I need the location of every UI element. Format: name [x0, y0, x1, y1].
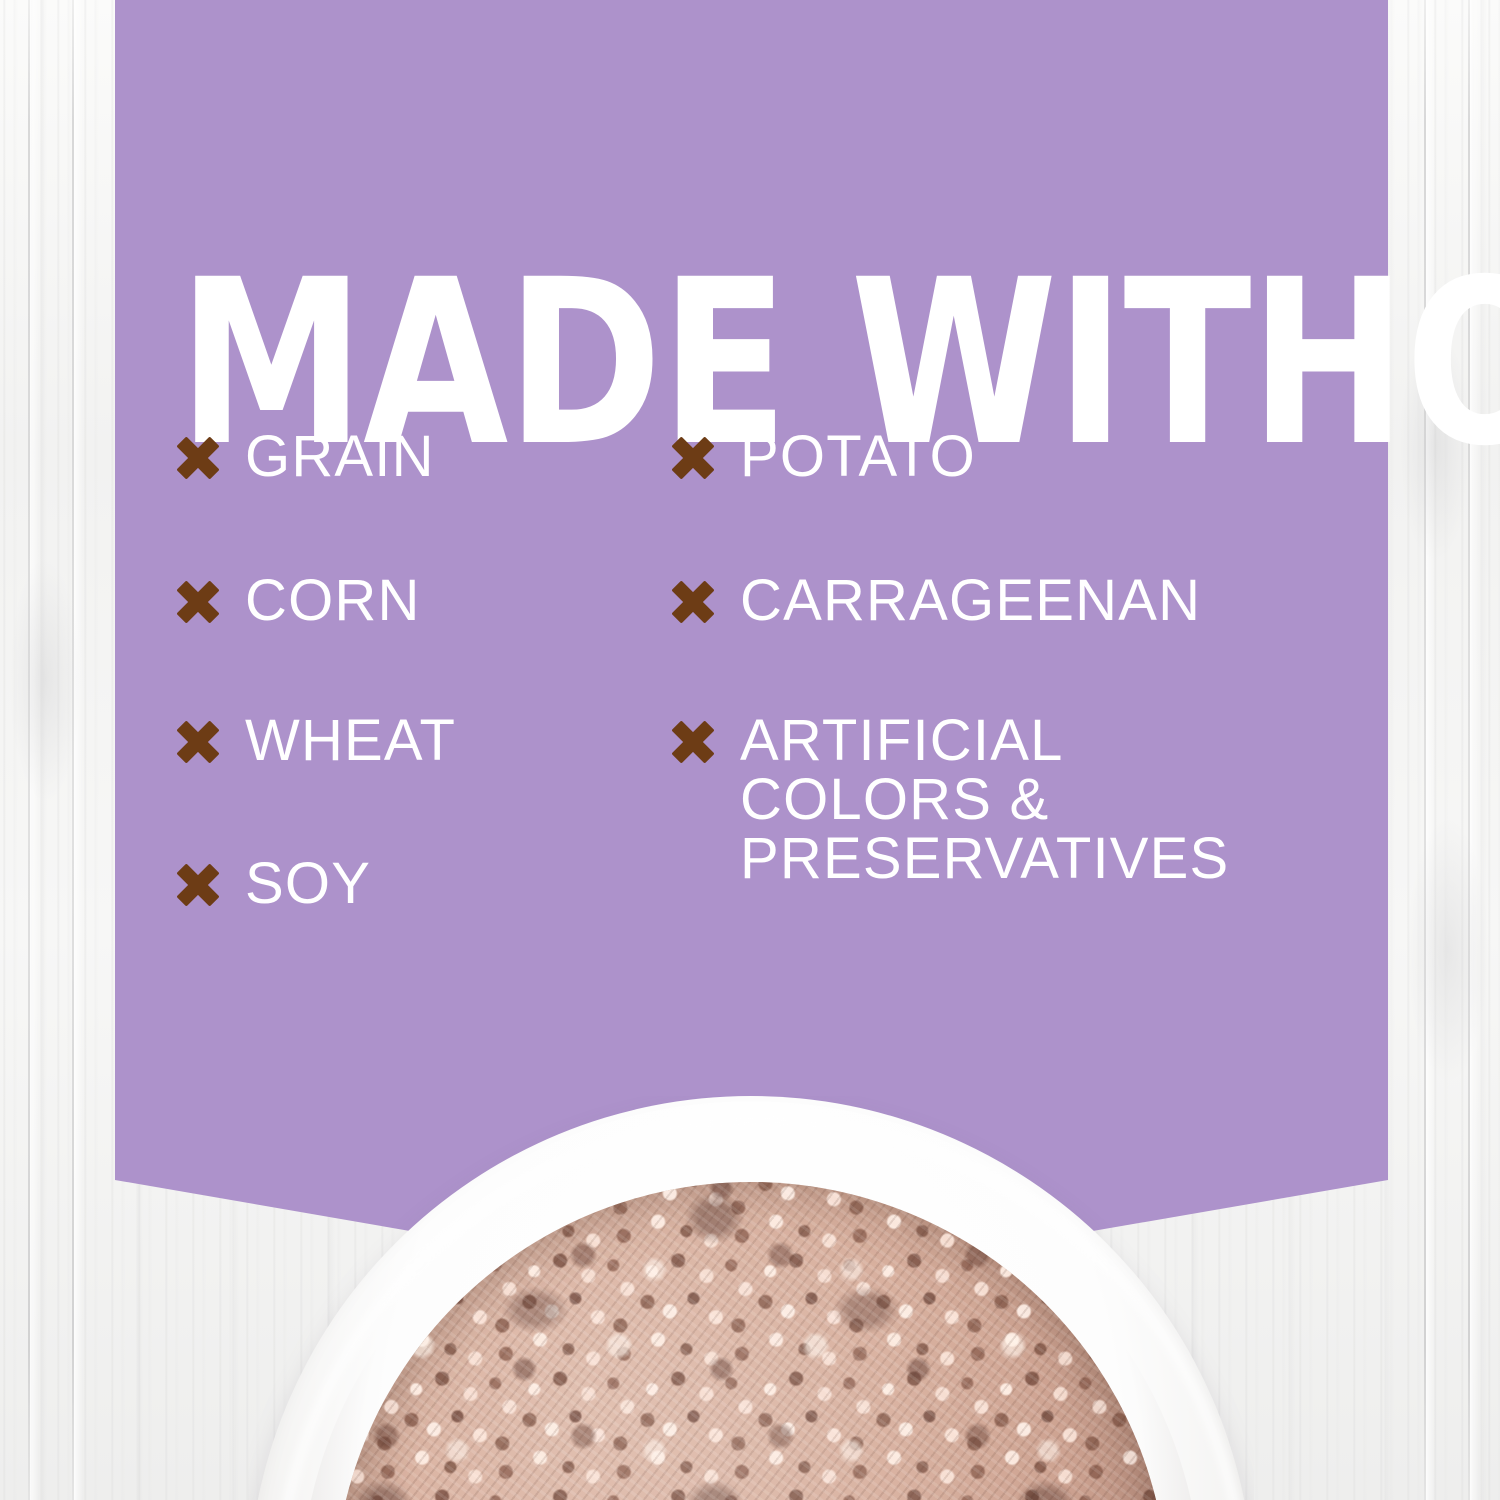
list-item-label: SOY	[245, 854, 371, 913]
list-item: WHEAT	[178, 720, 456, 770]
list-item-label: CARRAGEENAN	[740, 571, 1201, 630]
list-item: CARRAGEENAN	[673, 580, 1201, 630]
wood-plank-seam	[1468, 0, 1470, 1500]
list-item: GRAIN	[178, 436, 435, 486]
list-item: SOY	[178, 863, 371, 913]
list-item-label: POTATO	[740, 427, 976, 486]
list-item-label: CORN	[245, 571, 421, 630]
list-item: POTATO	[673, 436, 976, 486]
x-mark-icon	[673, 582, 713, 622]
wood-knot	[10, 560, 80, 800]
product-feature-graphic: MADE WITHOUT GRAIN CORN WHEAT SOY	[0, 0, 1500, 1500]
list-item: CORN	[178, 580, 421, 630]
x-mark-icon	[178, 438, 218, 478]
wood-knot	[1408, 820, 1488, 1080]
list-item-label: ARTIFICIAL COLORS & PRESERVATIVES	[740, 711, 1229, 888]
x-mark-icon	[178, 865, 218, 905]
list-item-label: GRAIN	[245, 427, 435, 486]
x-mark-icon	[178, 582, 218, 622]
wood-plank-seam	[1424, 0, 1426, 1500]
list-item: ARTIFICIAL COLORS & PRESERVATIVES	[673, 720, 1229, 888]
list-item-label: WHEAT	[245, 711, 456, 770]
x-mark-icon	[673, 438, 713, 478]
x-mark-icon	[673, 722, 713, 762]
x-mark-icon	[178, 722, 218, 762]
made-without-list: GRAIN CORN WHEAT SOY POTATO	[178, 420, 1358, 960]
